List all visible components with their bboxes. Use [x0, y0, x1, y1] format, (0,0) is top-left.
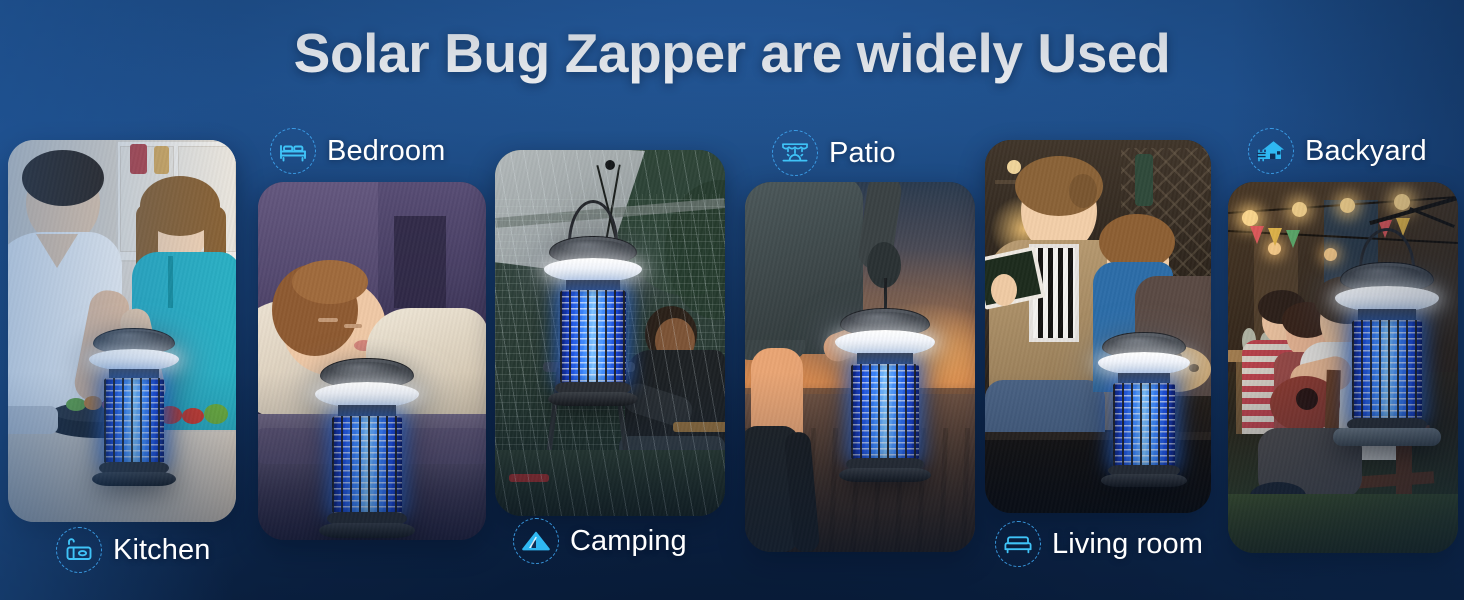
scene-panel-patio — [745, 182, 975, 552]
scene-label-text: Patio — [829, 137, 896, 170]
sofa-icon — [995, 521, 1041, 567]
bug-zapper-device — [1332, 262, 1442, 452]
house-fence-icon — [1248, 128, 1294, 174]
scene-label-camping: Camping — [513, 518, 687, 564]
scene-label-text: Kitchen — [113, 534, 210, 567]
scene-label-living-room: Living room — [995, 521, 1203, 567]
scene-panel-bedroom — [258, 182, 486, 540]
kitchen-photo — [8, 140, 236, 522]
bug-zapper-device — [541, 236, 645, 414]
scene-panel-backyard — [1228, 182, 1458, 553]
scene-panel-camping — [495, 150, 725, 516]
living-room-photo — [985, 140, 1211, 513]
product-lifestyle-banner: Solar Bug Zapper are widely Used — [0, 0, 1464, 600]
scene-label-text: Camping — [570, 525, 687, 558]
page-title: Solar Bug Zapper are widely Used — [0, 24, 1464, 83]
kitchen-sink-icon — [56, 527, 102, 573]
scene-label-text: Living room — [1052, 528, 1203, 561]
bed-icon — [270, 128, 316, 174]
scene-label-patio: Patio — [772, 130, 896, 176]
bug-zapper-device — [1095, 332, 1193, 494]
scene-label-kitchen: Kitchen — [56, 527, 210, 573]
tent-icon — [513, 518, 559, 564]
scene-label-bedroom: Bedroom — [270, 128, 445, 174]
bedroom-photo — [258, 182, 486, 540]
camping-photo — [495, 150, 725, 516]
scene-panel-living-room — [985, 140, 1211, 513]
scene-label-text: Bedroom — [327, 135, 445, 168]
backyard-photo — [1228, 182, 1458, 553]
awning-sun-icon — [772, 130, 818, 176]
bug-zapper-device — [831, 308, 939, 488]
scene-panel-kitchen — [8, 140, 236, 522]
bug-zapper-device — [312, 358, 422, 540]
patio-photo — [745, 182, 975, 552]
bug-zapper-device — [86, 328, 182, 498]
scene-label-text: Backyard — [1305, 135, 1427, 168]
scene-label-backyard: Backyard — [1248, 128, 1427, 174]
